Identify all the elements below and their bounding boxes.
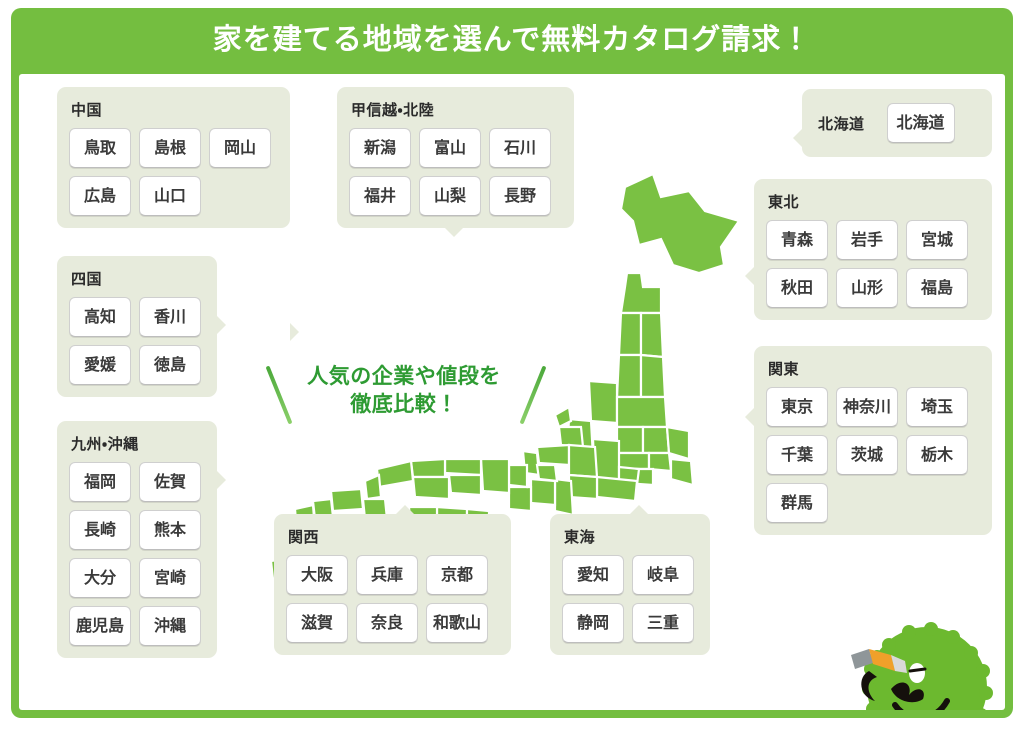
prefecture-list-kyushu-okinawa: 福岡 佐賀 長崎 熊本 大分 宮崎 鹿児島 沖縄: [69, 462, 205, 646]
region-panel-hokkaido: 北海道 北海道: [802, 89, 992, 157]
prefecture-button[interactable]: 新潟: [349, 128, 411, 168]
prefecture-button[interactable]: 千葉: [766, 435, 828, 475]
catalog-region-selector-page: 家を建てる地域を選んで無料カタログ請求！: [0, 0, 1024, 733]
prefecture-list-tokai: 愛知 岐阜 静岡 三重: [562, 555, 698, 643]
prefecture-button[interactable]: 岐阜: [632, 555, 694, 595]
pointer-icon: [396, 505, 414, 514]
pointer-icon: [793, 129, 802, 147]
prefecture-button[interactable]: 徳島: [139, 345, 201, 385]
prefecture-list-koshinetsu-hokuriku: 新潟 富山 石川 福井 山梨 長野: [349, 128, 562, 216]
prefecture-button[interactable]: 兵庫: [356, 555, 418, 595]
content-area: 人気の企業や値段を 徹底比較！ 中国 鳥取 島根 岡山 広島 山口 甲信越・北陸: [19, 74, 1005, 710]
prefecture-list-chugoku: 鳥取 島根 岡山 広島 山口: [69, 128, 278, 216]
prefecture-button[interactable]: 島根: [139, 128, 201, 168]
prefecture-button[interactable]: 岩手: [836, 220, 898, 260]
prefecture-list-kanto: 東京 神奈川 埼玉 千葉 茨城 栃木 群馬: [766, 387, 980, 523]
prefecture-button[interactable]: 青森: [766, 220, 828, 260]
mascot-icon: [839, 619, 1005, 710]
prefecture-button[interactable]: 長崎: [69, 510, 131, 550]
prefecture-button[interactable]: 愛知: [562, 555, 624, 595]
prefecture-button[interactable]: 北海道: [887, 103, 955, 143]
prefecture-button[interactable]: 石川: [489, 128, 551, 168]
prefecture-button[interactable]: 東京: [766, 387, 828, 427]
prefecture-button[interactable]: 栃木: [906, 435, 968, 475]
catchphrase-line-2: 徹底比較！: [274, 390, 534, 418]
region-panel-shikoku: 四国 高知 香川 愛媛 徳島: [57, 256, 217, 397]
catchphrase-line-1: 人気の企業や値段を: [274, 362, 534, 390]
prefecture-button[interactable]: 大阪: [286, 555, 348, 595]
prefecture-button[interactable]: 群馬: [766, 483, 828, 523]
catchphrase: 人気の企業や値段を 徹底比較！: [274, 362, 534, 419]
prefecture-button[interactable]: 山梨: [419, 176, 481, 216]
region-panel-kansai: 関西 大阪 兵庫 京都 滋賀 奈良 和歌山: [274, 514, 511, 655]
page-title: 家を建てる地域を選んで無料カタログ請求！: [11, 8, 1013, 74]
prefecture-button[interactable]: 愛媛: [69, 345, 131, 385]
prefecture-button[interactable]: 鳥取: [69, 128, 131, 168]
region-panel-tokai: 東海 愛知 岐阜 静岡 三重: [550, 514, 710, 655]
prefecture-button[interactable]: 福島: [906, 268, 968, 308]
prefecture-button[interactable]: 三重: [632, 603, 694, 643]
prefecture-button[interactable]: 宮崎: [139, 558, 201, 598]
region-title-chugoku: 中国: [71, 99, 278, 120]
prefecture-button[interactable]: 静岡: [562, 603, 624, 643]
prefecture-button[interactable]: 富山: [419, 128, 481, 168]
pointer-icon: [745, 408, 754, 426]
prefecture-list-kansai: 大阪 兵庫 京都 滋賀 奈良 和歌山: [286, 555, 499, 643]
prefecture-button[interactable]: 長野: [489, 176, 551, 216]
prefecture-button[interactable]: 和歌山: [426, 603, 488, 643]
pointer-icon: [290, 323, 299, 341]
region-panel-koshinetsu-hokuriku: 甲信越・北陸 新潟 富山 石川 福井 山梨 長野: [337, 87, 574, 228]
prefecture-button[interactable]: 福岡: [69, 462, 131, 502]
region-panel-tohoku: 東北 青森 岩手 宮城 秋田 山形 福島: [754, 179, 992, 320]
prefecture-button[interactable]: 大分: [69, 558, 131, 598]
region-panel-kanto: 関東 東京 神奈川 埼玉 千葉 茨城 栃木 群馬: [754, 346, 992, 535]
prefecture-button[interactable]: 佐賀: [139, 462, 201, 502]
prefecture-button[interactable]: 岡山: [209, 128, 271, 168]
prefecture-button[interactable]: 山形: [836, 268, 898, 308]
prefecture-list-tohoku: 青森 岩手 宮城 秋田 山形 福島: [766, 220, 980, 308]
pointer-icon: [217, 316, 226, 334]
prefecture-button[interactable]: 香川: [139, 297, 201, 337]
prefecture-button[interactable]: 高知: [69, 297, 131, 337]
prefecture-button[interactable]: 鹿児島: [69, 606, 131, 646]
region-title-kanto: 関東: [768, 358, 980, 379]
prefecture-button[interactable]: 沖縄: [139, 606, 201, 646]
prefecture-button[interactable]: 広島: [69, 176, 131, 216]
region-title-tohoku: 東北: [768, 191, 980, 212]
green-frame: 家を建てる地域を選んで無料カタログ請求！: [11, 8, 1013, 718]
region-title-koshinetsu-hokuriku: 甲信越・北陸: [351, 99, 562, 120]
region-title-shikoku: 四国: [71, 268, 205, 289]
prefecture-button[interactable]: 神奈川: [836, 387, 898, 427]
prefecture-button[interactable]: 茨城: [836, 435, 898, 475]
pointer-icon: [745, 267, 754, 285]
region-panel-chugoku: 中国 鳥取 島根 岡山 広島 山口: [57, 87, 290, 228]
prefecture-button[interactable]: 宮城: [906, 220, 968, 260]
region-title-tokai: 東海: [564, 526, 698, 547]
pointer-icon: [217, 471, 226, 489]
prefecture-button[interactable]: 福井: [349, 176, 411, 216]
prefecture-button[interactable]: 奈良: [356, 603, 418, 643]
region-panel-kyushu-okinawa: 九州・沖縄 福岡 佐賀 長崎 熊本 大分 宮崎 鹿児島 沖縄: [57, 421, 217, 658]
prefecture-button[interactable]: 秋田: [766, 268, 828, 308]
prefecture-button[interactable]: 京都: [426, 555, 488, 595]
prefecture-button[interactable]: 埼玉: [906, 387, 968, 427]
pointer-icon: [630, 505, 648, 514]
prefecture-button[interactable]: 山口: [139, 176, 201, 216]
prefecture-button[interactable]: 熊本: [139, 510, 201, 550]
pointer-icon: [445, 228, 463, 237]
prefecture-list-shikoku: 高知 香川 愛媛 徳島: [69, 297, 205, 385]
prefecture-button[interactable]: 滋賀: [286, 603, 348, 643]
region-title-kansai: 関西: [288, 526, 499, 547]
region-title-kyushu-okinawa: 九州・沖縄: [71, 433, 205, 454]
region-title-hokkaido: 北海道: [818, 113, 865, 134]
